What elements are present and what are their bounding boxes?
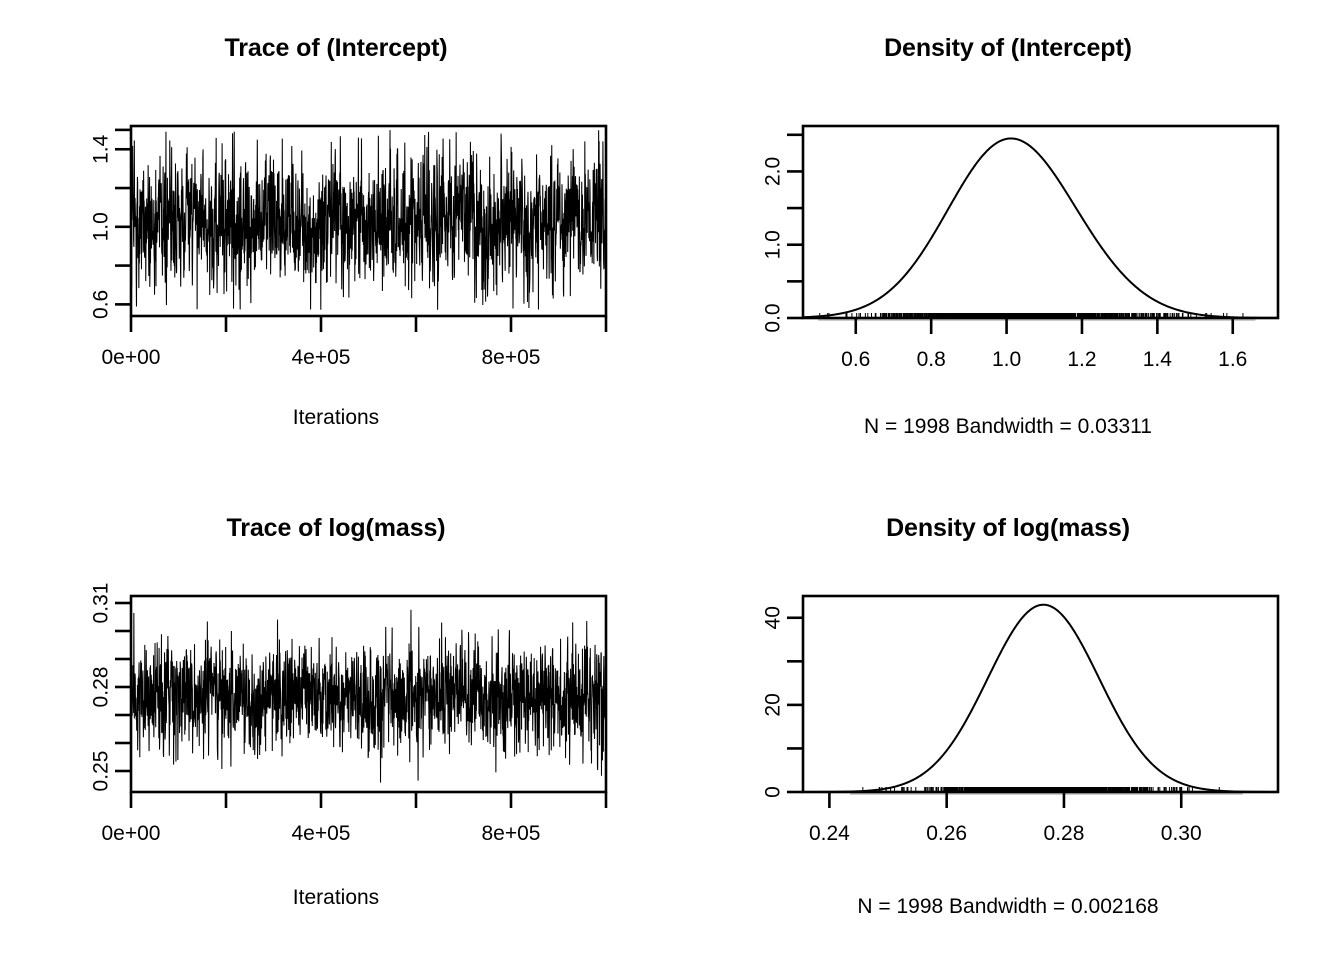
xtick-label: 1.2 xyxy=(1067,348,1096,371)
panel-trace-logmass: Trace of log(mass) 0e+004e+058e+050.250.… xyxy=(0,480,672,960)
xtick-label: 1.6 xyxy=(1218,348,1247,371)
xtick-label: 1.4 xyxy=(1143,348,1173,371)
ytick-label: 0 xyxy=(762,786,785,798)
ytick-label: 1.4 xyxy=(90,134,113,164)
plot-density-logmass: 0.240.260.280.3002040 xyxy=(672,480,1344,960)
xaxis-label-density-logmass: N = 1998 Bandwidth = 0.002168 xyxy=(672,895,1344,919)
ytick-label: 20 xyxy=(762,693,785,716)
xtick-label: 8e+05 xyxy=(482,822,541,845)
xaxis-label-trace-logmass: Iterations xyxy=(0,886,672,910)
ytick-label: 0.31 xyxy=(90,583,113,624)
ytick-label: 2.0 xyxy=(762,157,785,186)
mcmc-diagnostics-figure: Trace of (Intercept) 0e+004e+058e+050.61… xyxy=(0,0,1344,960)
ytick-label: 1.0 xyxy=(762,230,785,259)
xtick-label: 0.24 xyxy=(809,822,850,845)
ytick-label: 40 xyxy=(762,606,785,629)
xtick-label: 0.28 xyxy=(1044,822,1085,845)
ytick-label: 0.0 xyxy=(762,303,785,332)
xtick-label: 8e+05 xyxy=(482,346,541,369)
panel-density-intercept: Density of (Intercept) 0.60.81.01.21.41.… xyxy=(672,0,1344,480)
xaxis-label-density-intercept: N = 1998 Bandwidth = 0.03311 xyxy=(672,415,1344,439)
panel-trace-intercept: Trace of (Intercept) 0e+004e+058e+050.61… xyxy=(0,0,672,480)
panel-density-logmass: Density of log(mass) 0.240.260.280.30020… xyxy=(672,480,1344,960)
ytick-label: 0.28 xyxy=(90,667,113,708)
xtick-label: 0.6 xyxy=(841,348,870,371)
ytick-label: 0.6 xyxy=(90,290,113,319)
xtick-label: 0.26 xyxy=(926,822,967,845)
xtick-label: 1.0 xyxy=(992,348,1021,371)
xtick-label: 0.8 xyxy=(917,348,946,371)
plot-density-intercept: 0.60.81.01.21.41.60.01.02.0 xyxy=(672,0,1344,480)
xtick-label: 0e+00 xyxy=(102,822,161,845)
xtick-label: 0.30 xyxy=(1161,822,1202,845)
xtick-label: 4e+05 xyxy=(292,346,351,369)
ytick-label: 0.25 xyxy=(90,751,113,792)
xtick-label: 0e+00 xyxy=(102,346,161,369)
xaxis-label-trace-intercept: Iterations xyxy=(0,406,672,430)
ytick-label: 1.0 xyxy=(90,212,113,241)
xtick-label: 4e+05 xyxy=(292,822,351,845)
